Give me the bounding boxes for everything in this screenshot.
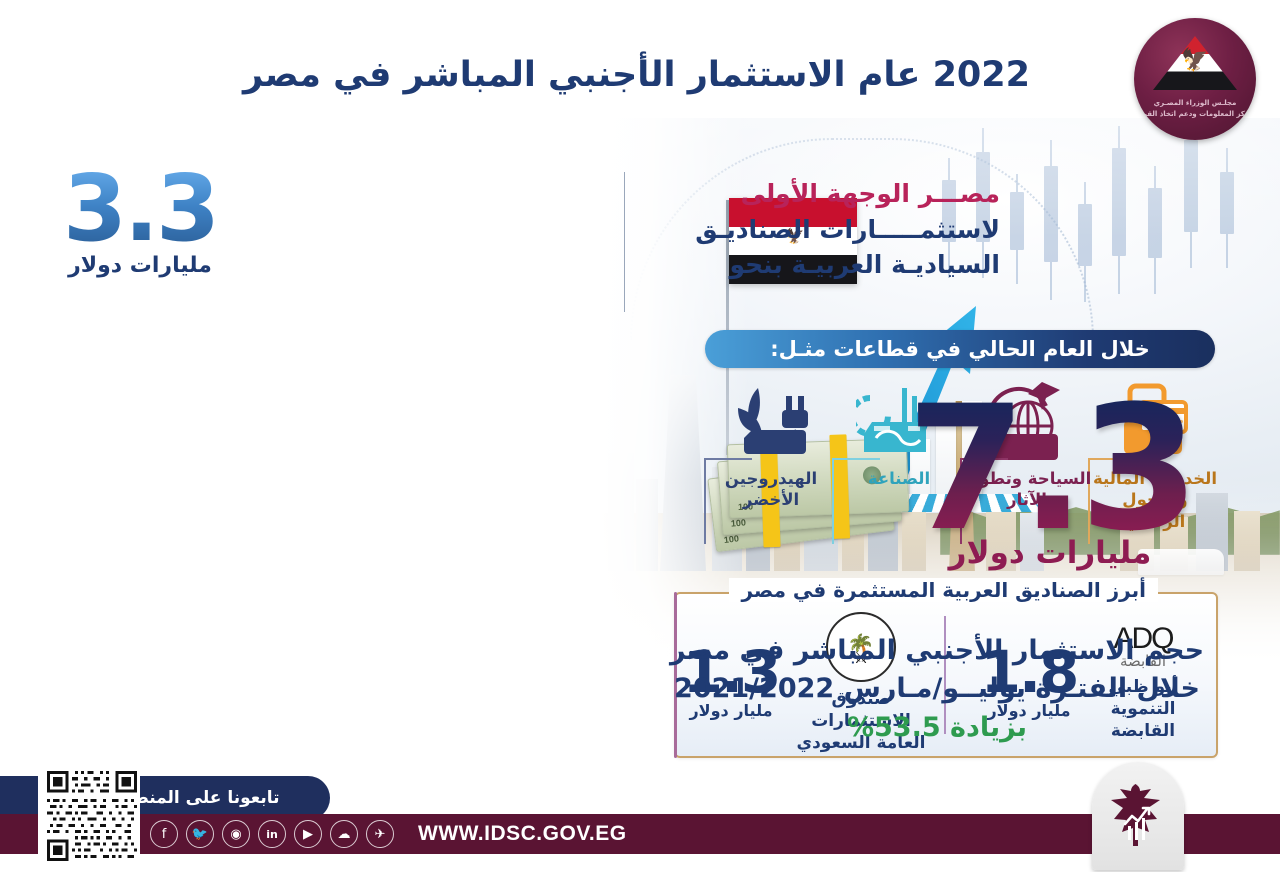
sector-connector-line <box>832 458 880 544</box>
fdi-desc-line-2: خلال الفتـرة يوليــو/مـارس 2021/2022 <box>652 670 1222 708</box>
sector-item-green-hydrogen[interactable]: الهيدروجين الأخضر <box>706 374 836 564</box>
qr-code[interactable] <box>38 768 140 870</box>
eagle-growth-icon <box>1107 782 1169 850</box>
page-title: 2022 عام الاستثمار الأجنبي المباشر في مص… <box>230 52 1030 99</box>
idsc-eagle-badge <box>1092 762 1184 870</box>
sovereign-stat-value: 3.3 <box>40 168 240 251</box>
soundcloud-icon[interactable]: ☁ <box>330 820 358 848</box>
fdi-stat-value: 7.3 <box>900 398 1200 539</box>
idsc-logo: 🦅 مجلـس الوزراء المصـري مركز المعلومات و… <box>1134 18 1256 140</box>
fdi-desc-line-3: بزيادة 53.5% <box>652 709 1222 747</box>
fdi-increase-prefix: بزيادة <box>941 712 1027 743</box>
logo-text: مجلـس الوزراء المصـري مركز المعلومات ودع… <box>1134 98 1256 119</box>
logo-line-1: مجلـس الوزراء المصـري <box>1134 98 1256 109</box>
website-url[interactable]: WWW.IDSC.GOV.EG <box>418 822 627 846</box>
telegram-icon[interactable]: ✈ <box>366 820 394 848</box>
sectors-banner-label: خلال العام الحالي في قطاعات مثـل: <box>770 337 1150 361</box>
facebook-icon[interactable]: f <box>150 820 178 848</box>
sectors-banner: خلال العام الحالي في قطاعات مثـل: <box>705 330 1215 368</box>
funds-box-title: أبرز الصناديق العربية المستثمرة في مصر <box>729 578 1158 602</box>
fdi-main-stat: 7.3 مليارات دولار <box>900 398 1200 571</box>
sector-connector-line <box>704 458 752 544</box>
footer-bar: f 🐦 ◉ in ▶ ☁ ✈ WWW.IDSC.GOV.EG <box>0 814 1280 854</box>
fdi-increase-value: 53.5% <box>847 712 941 743</box>
logo-line-2: مركز المعلومات ودعم اتخاذ القرار <box>1134 109 1256 120</box>
sovereign-stat-description: مصـــر الوجهة الأولى لاستثمـــــارات الص… <box>670 176 1000 283</box>
twitter-icon[interactable]: 🐦 <box>186 820 214 848</box>
footer-content: f 🐦 ◉ in ▶ ☁ ✈ WWW.IDSC.GOV.EG <box>150 814 627 854</box>
linkedin-icon[interactable]: in <box>258 820 286 848</box>
sovereign-stat-unit: مليارات دولار <box>40 253 240 278</box>
eagle-icon: 🦅 <box>1181 50 1208 72</box>
youtube-icon[interactable]: ▶ <box>294 820 322 848</box>
infographic-canvas: 🦅 100 100 100 <box>0 0 1280 872</box>
sovereign-fund-stat: 3.3 مليارات دولار <box>40 168 240 278</box>
sovereign-desc-rest: لاستثمـــــارات الصناديـق السياديـة العر… <box>695 215 1000 280</box>
sovereign-desc-highlight: مصـــر الوجهة الأولى <box>741 179 1000 208</box>
vertical-divider <box>624 172 625 312</box>
fdi-stat-description: حجم الاستثمار الأجنبي المباشر في مصر خلا… <box>652 632 1222 747</box>
leaf-plug-icon <box>706 374 836 462</box>
instagram-icon[interactable]: ◉ <box>222 820 250 848</box>
fdi-desc-line-1: حجم الاستثمار الأجنبي المباشر في مصر <box>652 632 1222 670</box>
